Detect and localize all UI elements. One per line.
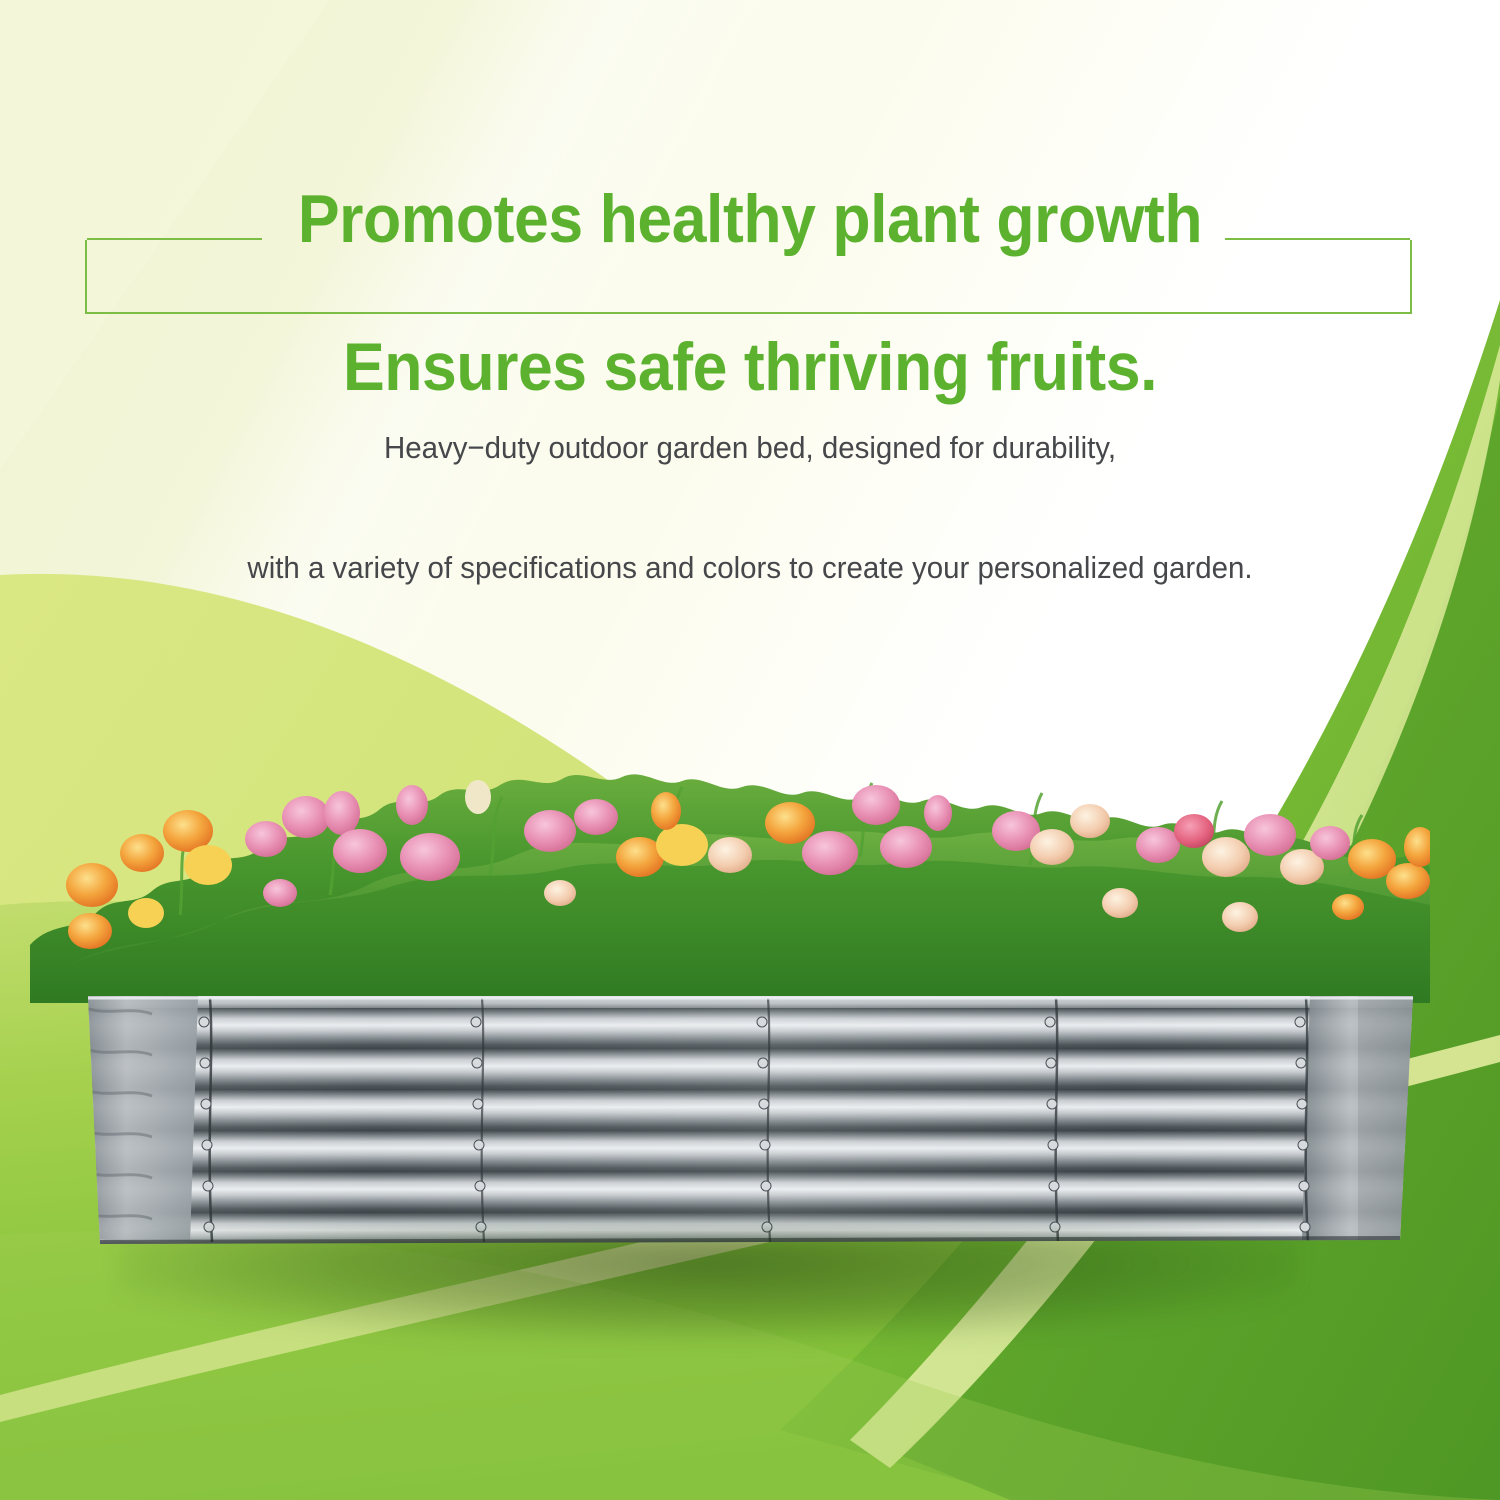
rose-plants-photo <box>30 735 1430 1003</box>
marketing-banner: Promotes healthy plant growth Ensures sa… <box>0 0 1500 1500</box>
headline-line-1: Promotes healthy plant growth <box>60 182 1440 256</box>
raised-garden-bed <box>78 988 1423 1268</box>
subtitle-line-1: Heavy−duty outdoor garden bed, designed … <box>384 430 1116 465</box>
subtitle-text: Heavy−duty outdoor garden bed, designed … <box>38 358 1463 598</box>
subtitle-line-2: with a variety of specifications and col… <box>247 550 1252 585</box>
corrugated-metal-panel <box>78 988 1423 1268</box>
bed-ground-shadow <box>120 1230 1300 1340</box>
foliage-illustration <box>30 735 1430 1003</box>
